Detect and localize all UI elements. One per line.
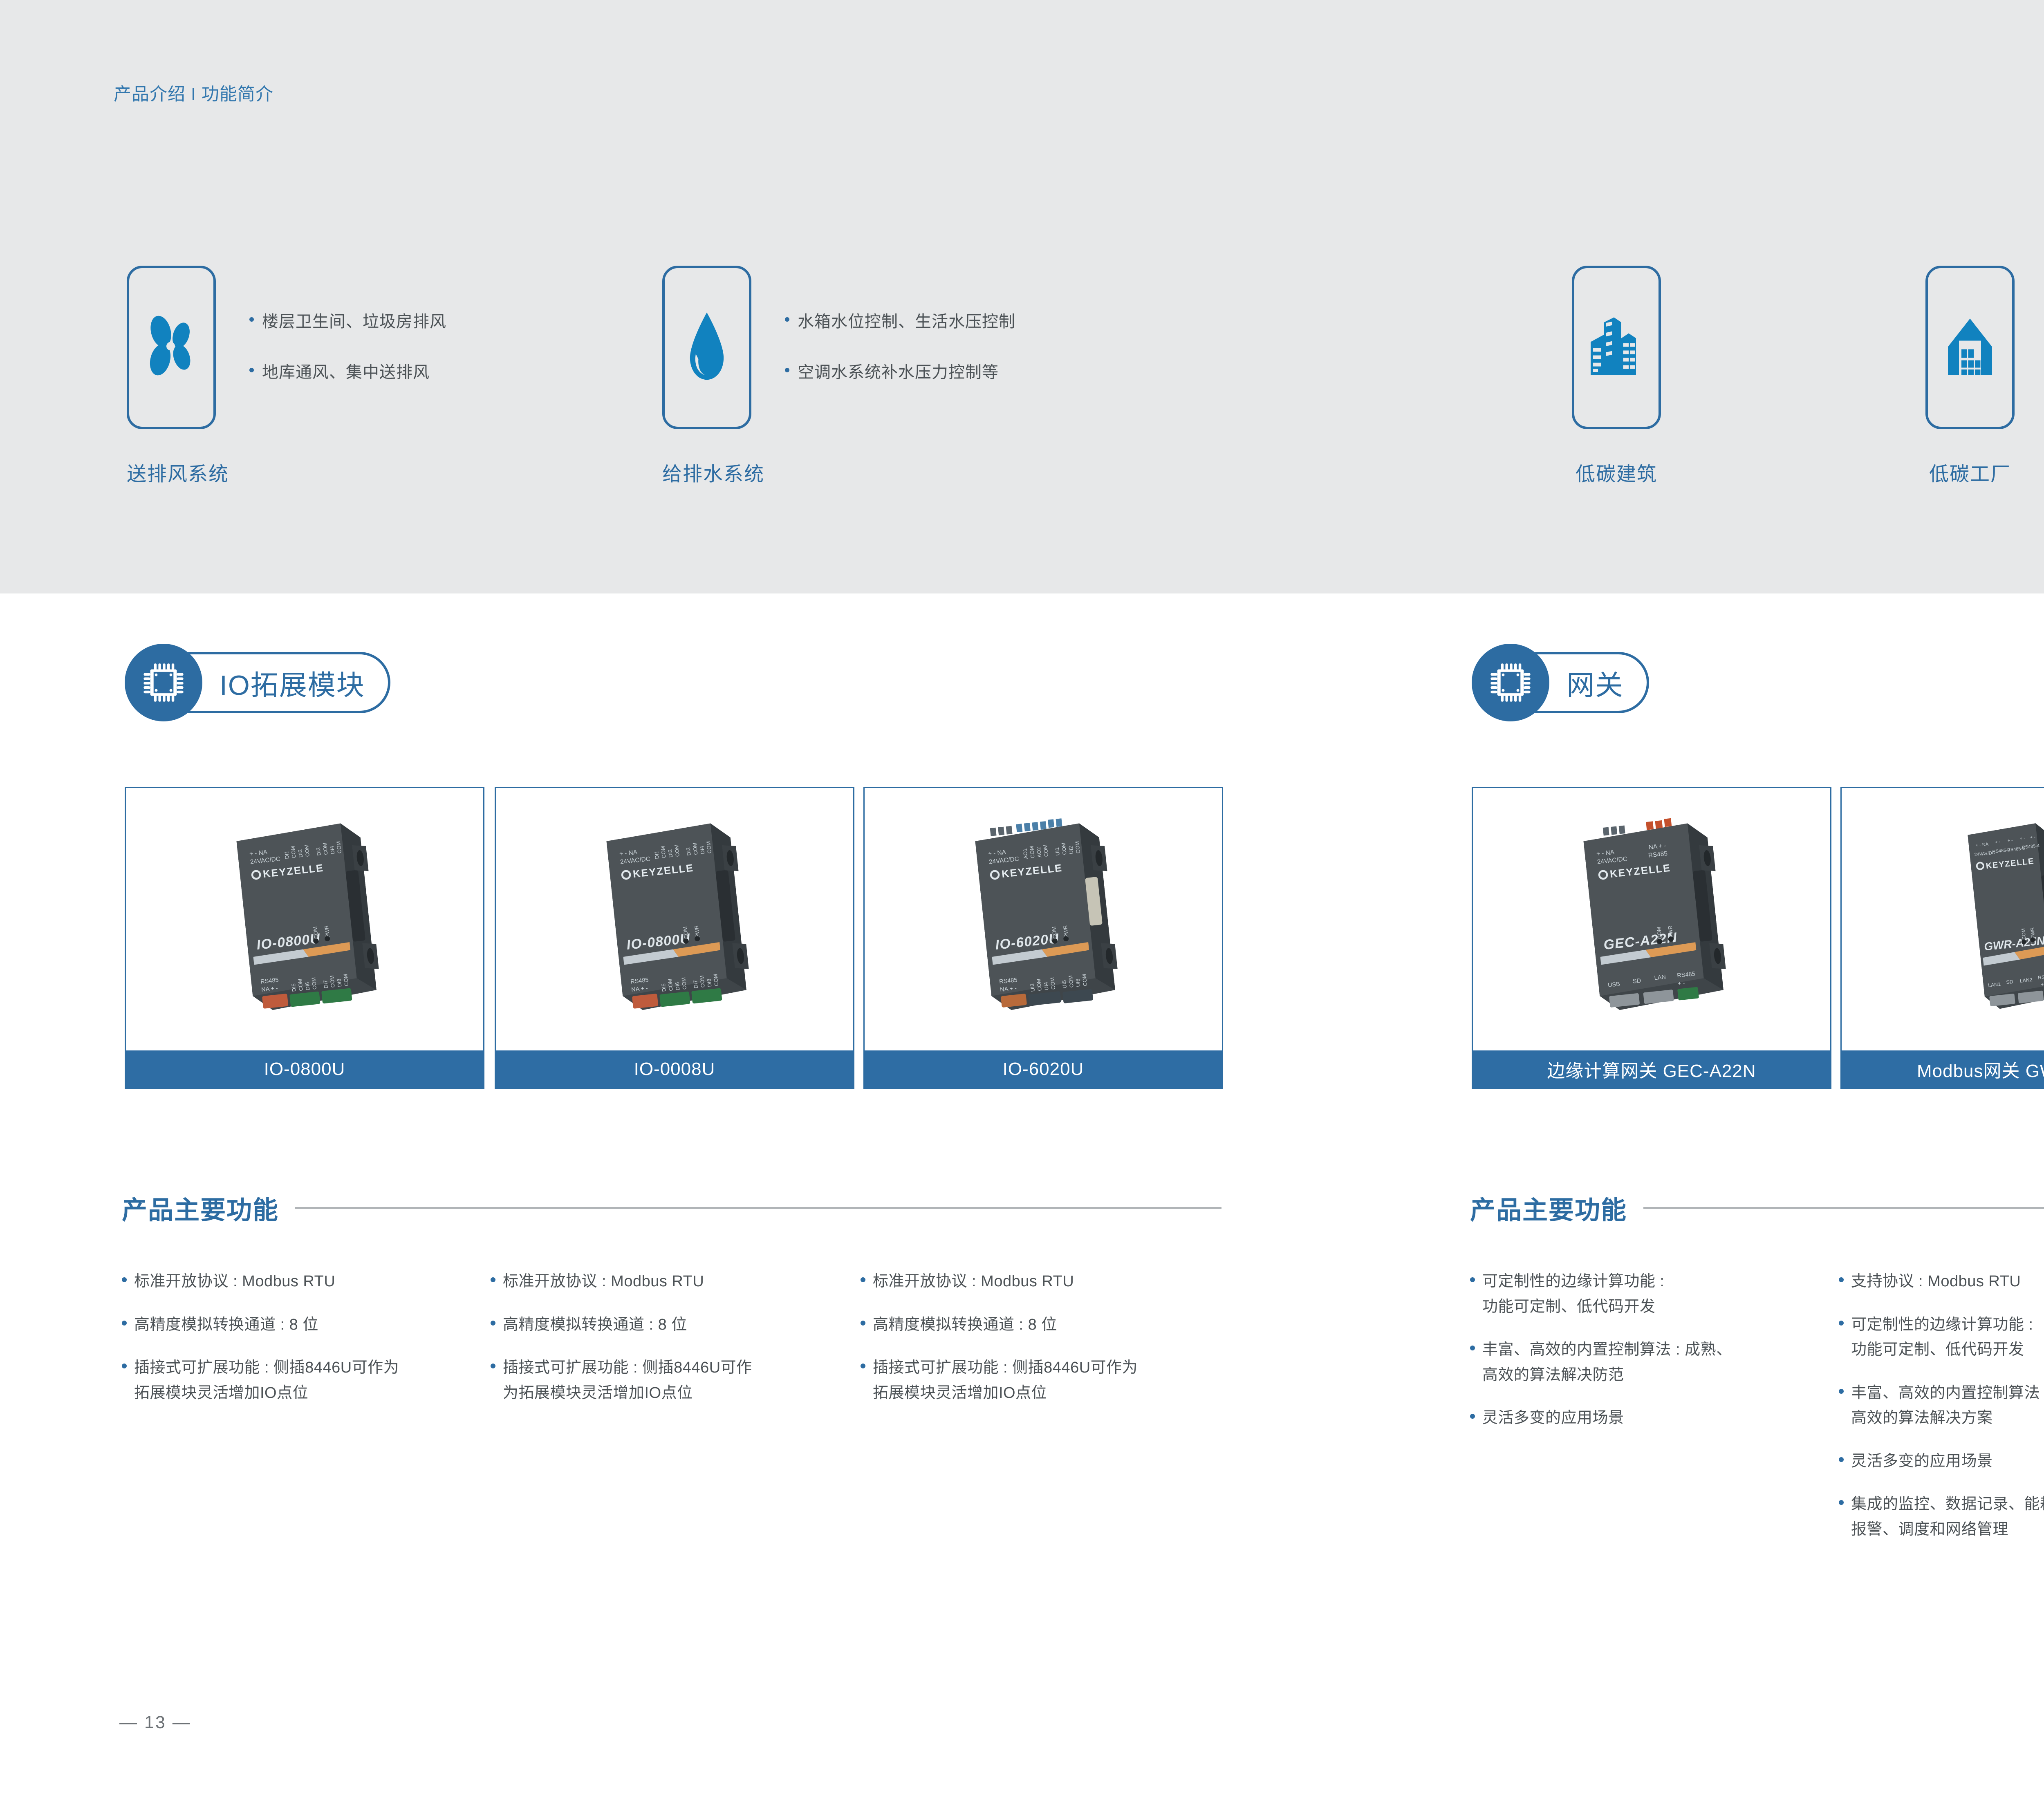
feature-item: 可定制性的边缘计算功能 : 功能可定制、低代码开发 [1839, 1312, 2044, 1363]
product-image: + - NA 24VAC/DC NA + - RS485 KEYZELLE GE… [1473, 788, 1830, 1050]
svg-text:DI2: DI2 [297, 849, 304, 858]
bullet-dot-icon [1470, 1346, 1475, 1350]
bullet-item: 楼层卫生间、垃圾房排风 [249, 308, 446, 332]
svg-text:DI3: DI3 [315, 847, 322, 856]
product-card-gec-a22n[interactable]: + - NA 24VAC/DC NA + - RS485 KEYZELLE GE… [1472, 787, 1831, 1089]
svg-text:COM: COM [712, 974, 719, 986]
running-header-left: 产品介绍 I 功能简介 [114, 80, 273, 105]
tile-low-carbon-factory: 低碳工厂 [1925, 266, 2015, 486]
svg-text:DI4: DI4 [329, 846, 336, 854]
bullet-item: 空调水系统补水压力控制等 [785, 359, 1015, 383]
product-card-io-0800u[interactable]: + - NA 24VAC/DC DI1 COM DI2 COM DI3 COM … [125, 787, 484, 1089]
features-heading-title: 产品主要功能 [122, 1189, 279, 1226]
svg-text:UI6: UI6 [1075, 978, 1082, 987]
bullet-dot-icon [785, 317, 789, 322]
bullet-dot-icon [1839, 1389, 1844, 1394]
product-image: + - NA 24VAC/DC DI1 COM DI2 COM DI3 COM … [126, 788, 483, 1050]
feature-text: 标准开放协议 : Modbus RTU [873, 1269, 1074, 1294]
svg-text:DI1: DI1 [283, 851, 290, 859]
svg-text:DI5: DI5 [290, 983, 297, 992]
feature-text: 支持协议 : Modbus RTU [1851, 1269, 2021, 1294]
svg-text:UI5: UI5 [1061, 980, 1068, 988]
page-number-left: — 13 — [119, 1713, 191, 1733]
feature-item: 集成的监控、数据记录、能耗计量、 报警、调度和网络管理 [1839, 1492, 2044, 1542]
feature-item: 标准开放协议 : Modbus RTU [491, 1269, 850, 1294]
feature-text: 高精度模拟转换通道 : 8 位 [873, 1312, 1057, 1338]
svg-text:DI5: DI5 [660, 983, 667, 992]
feature-text: 丰富、高效的内置控制算法 : 成熟、 高效的算法解决方案 [1851, 1381, 2044, 1431]
office-building-icon-box [1572, 266, 1661, 429]
bullet-dot-icon [1470, 1277, 1475, 1282]
device-photo-io-6020u: + - NA 24VAC/DC AO1 COM AO2 COM UI1 COM … [929, 805, 1158, 1034]
bullet-dot-icon [249, 317, 254, 322]
tile-low-carbon-building: 低碳建筑 [1572, 266, 1661, 486]
bullet-dot-icon [785, 368, 789, 372]
svg-text:COM: COM [2021, 928, 2027, 940]
feature-column-gateway-2: 支持协议 : Modbus RTU 可定制性的边缘计算功能 : 功能可定制、低代… [1839, 1269, 2044, 1560]
svg-text:COM: COM [322, 842, 329, 855]
feature-text: 可定制性的边缘计算功能 : 功能可定制、低代码开发 [1851, 1312, 2033, 1363]
chip-icon-circle [125, 644, 202, 721]
svg-text:COM: COM [1042, 844, 1049, 857]
feature-column-io-2: 标准开放协议 : Modbus RTU 高精度模拟转换通道 : 8 位 插接式可… [491, 1269, 850, 1424]
bullet-dot-icon [249, 368, 254, 372]
svg-text:DI6: DI6 [304, 982, 311, 990]
svg-text:COM: COM [1067, 975, 1075, 988]
svg-text:DI7: DI7 [692, 980, 699, 988]
svg-text:+ -: + - [2007, 838, 2013, 843]
svg-text:DI7: DI7 [322, 980, 329, 988]
bullet-dot-icon [1839, 1277, 1844, 1282]
device-photo-io-0008u: + - NA 24VAC/DC DI1 COM DI2 COM DI3 COM … [560, 805, 789, 1034]
feature-column-io-1: 标准开放协议 : Modbus RTU 高精度模拟转换通道 : 8 位 插接式可… [122, 1269, 482, 1424]
svg-text:LAN: LAN [1654, 974, 1666, 982]
feature-text: 丰富、高效的内置控制算法 : 成熟、 高效的算法解决防范 [1482, 1337, 1732, 1388]
tile-caption: 低碳建筑 [1572, 458, 1661, 486]
feature-text: 灵活多变的应用场景 [1851, 1449, 1993, 1474]
svg-text:COM: COM [1049, 977, 1056, 990]
bullet-dot-icon [1470, 1414, 1475, 1419]
bullet-item: 地库通风、集中送排风 [249, 359, 446, 383]
svg-text:AO2: AO2 [1035, 847, 1043, 858]
svg-text:PWR: PWR [693, 925, 701, 938]
product-caption: 边缘计算网关 GEC-A22N [1473, 1050, 1830, 1088]
feature-item: 丰富、高效的内置控制算法 : 成熟、 高效的算法解决方案 [1839, 1381, 2044, 1431]
svg-text:UI2: UI2 [1067, 846, 1074, 854]
bullet-dot-icon [122, 1277, 127, 1282]
device-photo-gec-a22n: + - NA 24VAC/DC NA + - RS485 KEYZELLE GE… [1537, 805, 1766, 1034]
svg-text:COM: COM [705, 841, 713, 853]
scenario-water-supply: 给排水系统 水箱水位控制、生活水压控制 空调水系统补水压力控制等 [662, 266, 764, 486]
svg-text:+ -: + - [2019, 835, 2026, 841]
feature-item: 插接式可扩展功能 : 侧插8446U可作为 拓展模块灵活增加IO点位 [122, 1355, 482, 1406]
feature-item: 标准开放协议 : Modbus RTU [122, 1269, 482, 1294]
bullet-dot-icon [861, 1321, 865, 1326]
bullet-dot-icon [491, 1277, 495, 1282]
svg-text:SD: SD [2006, 979, 2014, 985]
feature-item: 高精度模拟转换通道 : 8 位 [861, 1312, 1228, 1338]
svg-text:COM: COM [303, 844, 311, 857]
bullet-text: 楼层卫生间、垃圾房排风 [262, 308, 446, 332]
svg-text:DI6: DI6 [674, 982, 681, 990]
bullet-dot-icon [122, 1364, 127, 1368]
svg-text:COM: COM [1029, 846, 1036, 858]
svg-text:COM: COM [1060, 842, 1068, 855]
svg-text:DI2: DI2 [667, 849, 674, 858]
feature-text: 集成的监控、数据记录、能耗计量、 报警、调度和网络管理 [1851, 1492, 2044, 1542]
svg-text:PWR: PWR [323, 925, 331, 938]
heading-rule [295, 1207, 1221, 1209]
feature-text: 高精度模拟转换通道 : 8 位 [503, 1312, 687, 1338]
product-card-io-0008u[interactable]: + - NA 24VAC/DC DI1 COM DI2 COM DI3 COM … [495, 787, 854, 1089]
tile-caption: 低碳工厂 [1925, 458, 2015, 486]
svg-text:COM: COM [342, 974, 350, 986]
svg-text:DI8: DI8 [336, 978, 343, 987]
feature-text: 插接式可扩展功能 : 侧插8446U可作 为拓展模块灵活增加IO点位 [503, 1355, 752, 1406]
svg-text:COM: COM [667, 978, 674, 991]
feature-column-gateway-1: 可定制性的边缘计算功能 : 功能可定制、低代码开发 丰富、高效的内置控制算法 :… [1470, 1269, 1830, 1449]
bullet-dot-icon [861, 1277, 865, 1282]
bullet-dot-icon [491, 1364, 495, 1368]
svg-text:UI4: UI4 [1043, 982, 1050, 990]
bullet-text: 地库通风、集中送排风 [262, 359, 430, 383]
svg-text:COM: COM [1051, 926, 1058, 939]
bullet-text: 空调水系统补水压力控制等 [798, 359, 999, 383]
feature-text: 可定制性的边缘计算功能 : 功能可定制、低代码开发 [1482, 1269, 1665, 1319]
office-building-icon [1586, 313, 1647, 382]
features-heading-io: 产品主要功能 [122, 1189, 1221, 1226]
svg-text:COM: COM [335, 841, 343, 853]
scenario-water-supply-bullets: 水箱水位控制、生活水压控制 空调水系统补水压力控制等 [785, 308, 1015, 410]
svg-text:+ -: + - [2041, 981, 2044, 987]
feature-item: 插接式可扩展功能 : 侧插8446U可作为 拓展模块灵活增加IO点位 [861, 1355, 1228, 1406]
feature-item: 灵活多变的应用场景 [1839, 1449, 2044, 1474]
feature-item: 高精度模拟转换通道 : 8 位 [491, 1312, 850, 1338]
svg-text:COM: COM [329, 975, 336, 988]
feature-item: 灵活多变的应用场景 [1470, 1406, 1830, 1431]
svg-text:DI1: DI1 [653, 851, 660, 859]
feature-item: 丰富、高效的内置控制算法 : 成熟、 高效的算法解决防范 [1470, 1337, 1830, 1388]
brochure-spread: 产品介绍 I 功能简介 产品介绍 I 功能简介 — 13 — — 14 — 送排… [0, 0, 2044, 1798]
feature-text: 高精度模拟转换通道 : 8 位 [134, 1312, 318, 1338]
feature-item: 支持协议 : Modbus RTU [1839, 1269, 2044, 1294]
svg-text:PWR: PWR [1062, 925, 1069, 938]
chip-icon-circle [1472, 644, 1549, 721]
feature-item: 可定制性的边缘计算功能 : 功能可定制、低代码开发 [1470, 1269, 1830, 1319]
svg-text:COM: COM [660, 846, 667, 858]
product-image: + - NA+ - + -+ -+ - 24VAV/DCRS485-2 RS48… [1842, 788, 2044, 1050]
svg-text:SD: SD [1632, 978, 1641, 985]
product-card-gwr-a25n[interactable]: + - NA+ - + -+ -+ - 24VAV/DCRS485-2 RS48… [1840, 787, 2044, 1089]
svg-text:UI3: UI3 [1029, 983, 1036, 992]
top-grey-band [0, 0, 2044, 593]
svg-text:COM: COM [1656, 927, 1663, 939]
features-heading-gateway: 产品主要功能 [1470, 1189, 2044, 1226]
scenario-water-supply-caption: 给排水系统 [662, 458, 764, 486]
svg-text:PWR: PWR [1667, 925, 1674, 938]
svg-text:COM: COM [312, 926, 319, 939]
fan-icon-box [127, 266, 216, 429]
feature-item: 标准开放协议 : Modbus RTU [861, 1269, 1228, 1294]
water-drop-icon [680, 309, 733, 386]
bullet-dot-icon [1839, 1321, 1844, 1326]
svg-text:+ -: + - [2030, 835, 2036, 840]
product-caption: IO-0800U [126, 1050, 483, 1088]
product-card-io-6020u[interactable]: + - NA 24VAC/DC AO1 COM AO2 COM UI1 COM … [863, 787, 1223, 1089]
bullet-dot-icon [861, 1364, 865, 1368]
svg-text:AO1: AO1 [1022, 848, 1029, 859]
feature-text: 插接式可扩展功能 : 侧插8446U可作为 拓展模块灵活增加IO点位 [134, 1355, 399, 1406]
product-caption: Modbus网关 GWR-A25N [1842, 1050, 2044, 1088]
svg-text:+ -: + - [1995, 840, 2001, 845]
factory-icon [1939, 313, 2001, 382]
chip-icon [141, 661, 186, 705]
svg-text:COM: COM [310, 977, 318, 990]
feature-item: 插接式可扩展功能 : 侧插8446U可作 为拓展模块灵活增加IO点位 [491, 1355, 850, 1406]
bullet-text: 水箱水位控制、生活水压控制 [798, 308, 1015, 332]
feature-item: 高精度模拟转换通道 : 8 位 [122, 1312, 482, 1338]
product-image: + - NA 24VAC/DC AO1 COM AO2 COM UI1 COM … [865, 788, 1222, 1050]
product-caption: IO-6020U [865, 1050, 1222, 1088]
svg-text:COM: COM [1074, 841, 1081, 853]
bullet-dot-icon [1839, 1500, 1844, 1505]
svg-text:COM: COM [1035, 978, 1043, 991]
svg-text:COM: COM [680, 977, 688, 990]
svg-text:COM: COM [1081, 974, 1088, 986]
feature-text: 插接式可扩展功能 : 侧插8446U可作为 拓展模块灵活增加IO点位 [873, 1355, 1138, 1406]
bullet-dot-icon [491, 1321, 495, 1326]
device-photo-gwr-a25n: + - NA+ - + -+ -+ - 24VAV/DCRS485-2 RS48… [1906, 805, 2044, 1034]
feature-column-io-3: 标准开放协议 : Modbus RTU 高精度模拟转换通道 : 8 位 插接式可… [861, 1269, 1228, 1424]
svg-text:USB: USB [1607, 981, 1620, 989]
svg-text:COM: COM [297, 978, 304, 991]
feature-text: 标准开放协议 : Modbus RTU [134, 1269, 335, 1294]
svg-text:DI8: DI8 [706, 978, 713, 987]
chip-icon [1488, 661, 1533, 705]
svg-text:COM: COM [692, 842, 699, 855]
svg-text:PWR: PWR [2030, 927, 2036, 939]
bullet-dot-icon [1839, 1457, 1844, 1462]
scenario-ventilation: 送排风系统 楼层卫生间、垃圾房排风 地库通风、集中送排风 [127, 266, 229, 486]
bullet-dot-icon [122, 1321, 127, 1326]
water-drop-icon-box [662, 266, 751, 429]
bullet-item: 水箱水位控制、生活水压控制 [785, 308, 1015, 332]
feature-text: 灵活多变的应用场景 [1482, 1406, 1624, 1431]
factory-icon-box [1925, 266, 2015, 429]
device-photo-io-0800u: + - NA 24VAC/DC DI1 COM DI2 COM DI3 COM … [190, 805, 419, 1034]
fan-icon [141, 311, 202, 384]
scenario-ventilation-bullets: 楼层卫生间、垃圾房排风 地库通风、集中送排风 [249, 308, 446, 410]
svg-text:COM: COM [673, 844, 681, 857]
svg-text:COM: COM [682, 926, 689, 939]
svg-text:DI3: DI3 [685, 847, 692, 856]
feature-text: 标准开放协议 : Modbus RTU [503, 1269, 704, 1294]
svg-text:COM: COM [290, 846, 297, 858]
svg-text:COM: COM [699, 975, 706, 988]
section-title: IO拓展模块 [220, 663, 365, 703]
section-title: 网关 [1567, 663, 1624, 703]
svg-text:+ -: + - [1678, 980, 1685, 987]
product-image: + - NA 24VAC/DC DI1 COM DI2 COM DI3 COM … [496, 788, 853, 1050]
scenario-ventilation-caption: 送排风系统 [127, 458, 229, 486]
product-caption: IO-0008U [496, 1050, 853, 1088]
heading-rule [1643, 1207, 2044, 1209]
svg-text:DI4: DI4 [699, 846, 706, 854]
features-heading-title: 产品主要功能 [1470, 1189, 1627, 1226]
svg-text:UI1: UI1 [1054, 847, 1061, 856]
